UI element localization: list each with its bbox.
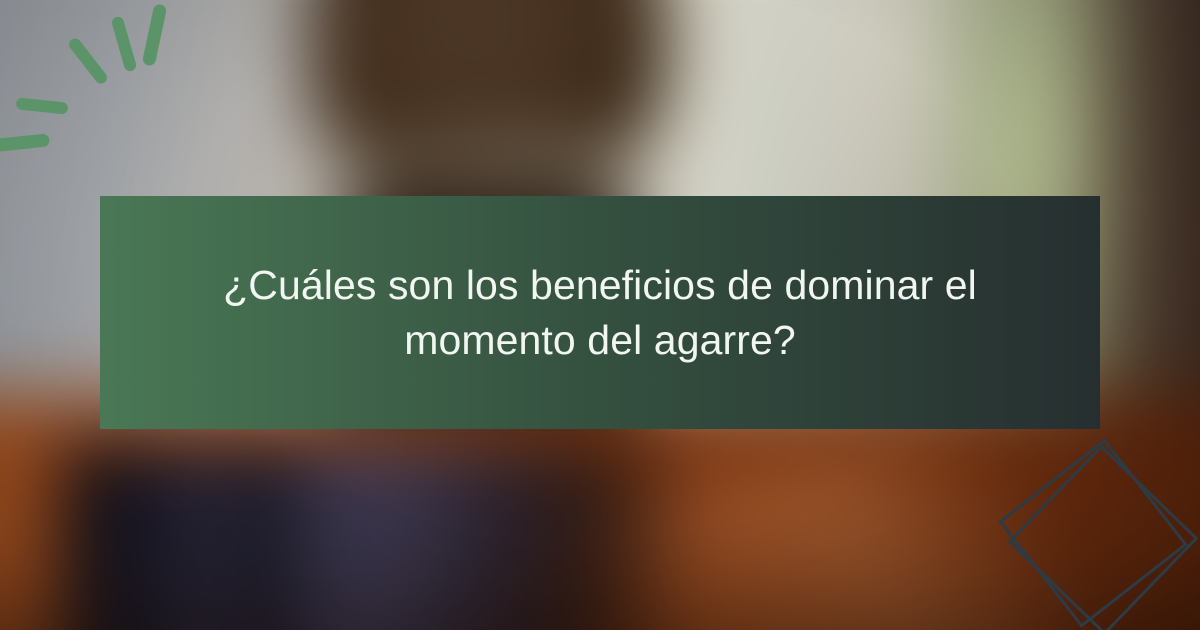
page-title: ¿Cuáles son los beneficios de dominar el…	[158, 258, 1042, 368]
title-banner: ¿Cuáles son los beneficios de dominar el…	[100, 196, 1100, 429]
share-card: ¿Cuáles son los beneficios de dominar el…	[0, 0, 1200, 630]
